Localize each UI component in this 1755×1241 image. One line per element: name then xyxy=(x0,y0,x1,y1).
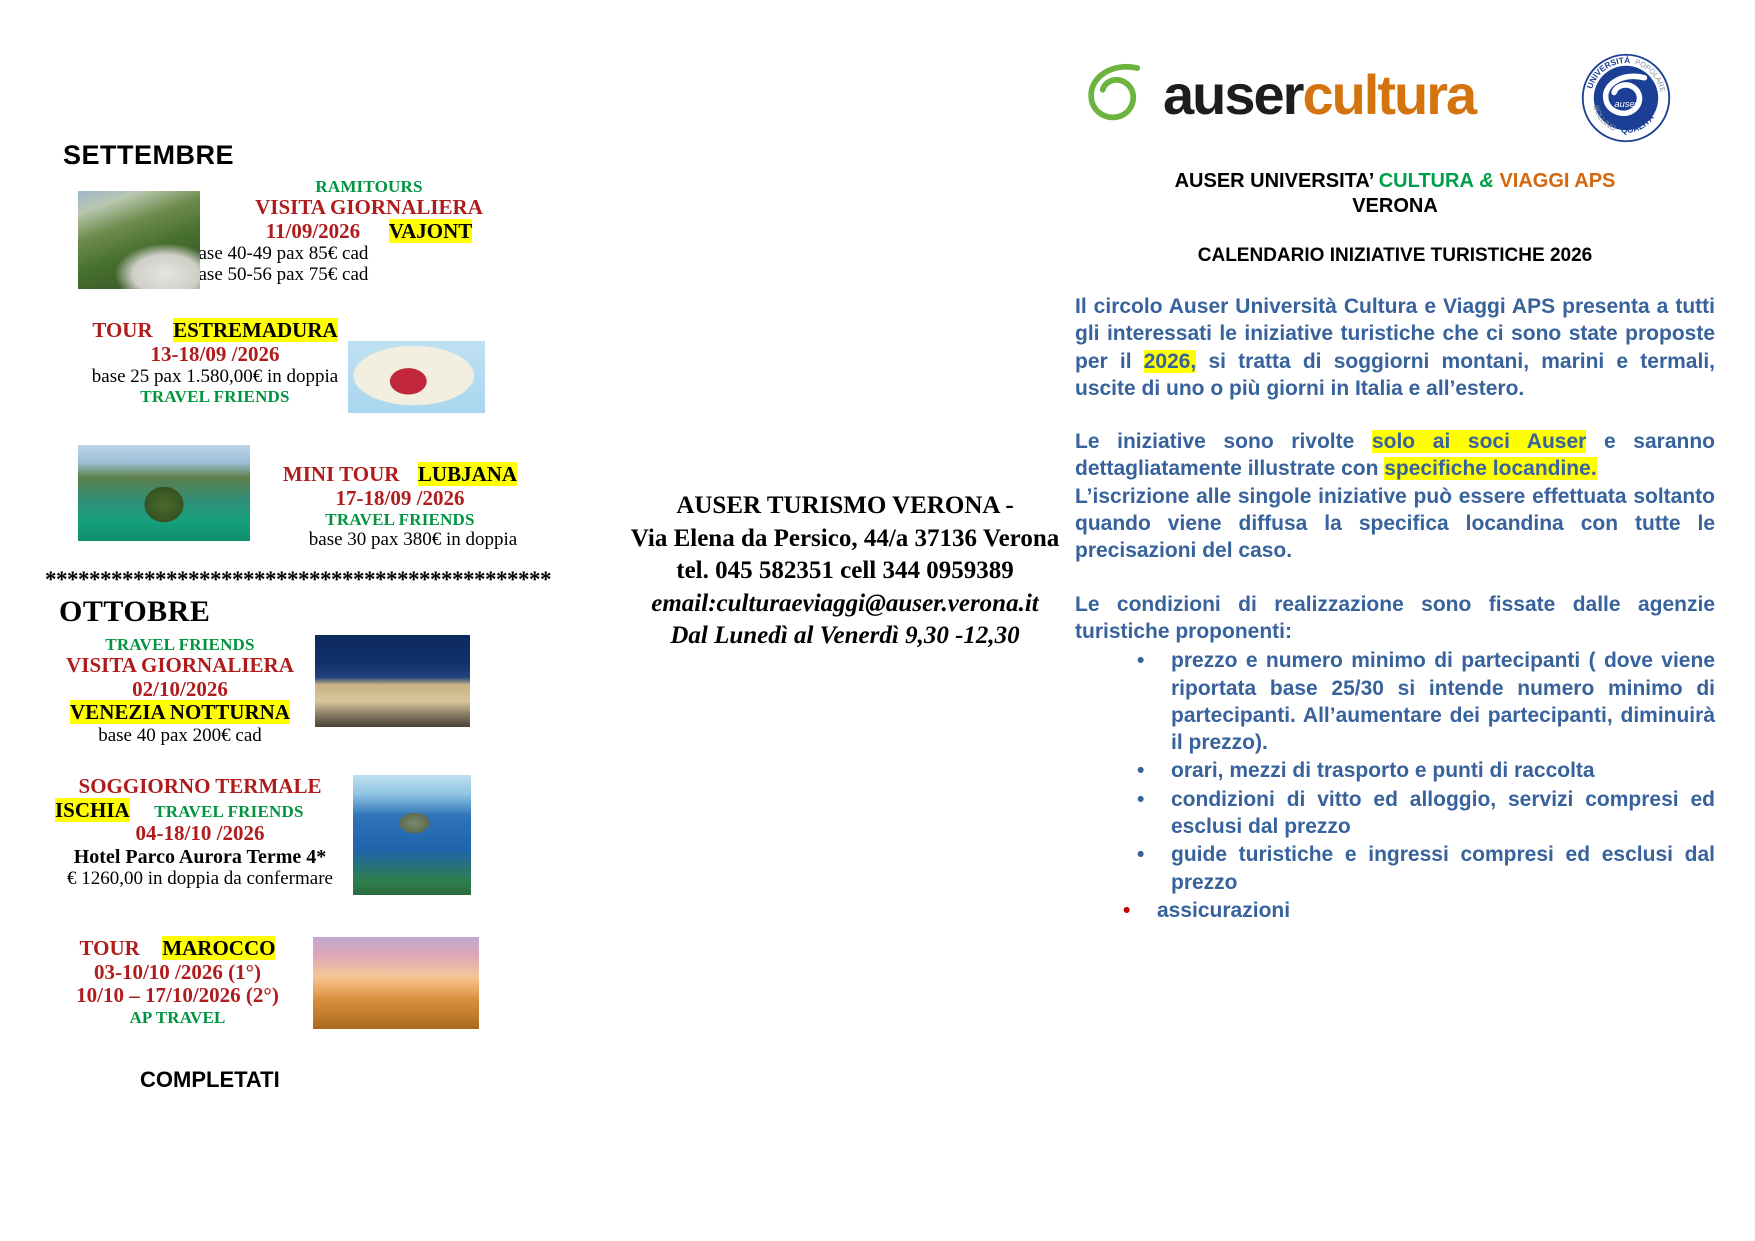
trip-price-2: base 50-56 pax 75€ cad xyxy=(163,264,575,285)
brochure-page: SETTEMBRE RAMITOURS VISITA GIORNALIERA 1… xyxy=(0,0,1755,1241)
trip-type: VISITA GIORNALIERA xyxy=(45,654,315,678)
condition-text: condizioni di vitto ed alloggio, servizi… xyxy=(1171,788,1715,838)
trip-price-1: base 30 pax 380€ in doppia xyxy=(225,529,575,550)
trip-card-vajont: RAMITOURS VISITA GIORNALIERA 11/09/2026 … xyxy=(45,177,575,297)
calendar-title: CALENDARIO INIZIATIVE TURISTICHE 2026 xyxy=(1075,245,1715,267)
trip-price-1: base 40 pax 200€ cad xyxy=(45,725,315,746)
condition-text: orari, mezzi di trasporto e punti di rac… xyxy=(1171,759,1595,782)
logo-word-auser: auser xyxy=(1163,63,1302,126)
status-completati: COMPLETATI xyxy=(140,1067,575,1093)
svg-text:auser: auser xyxy=(1615,99,1639,109)
trip-card-estremadura: TOUR ESTREMADURA 13-18/09 /2026 base 25 … xyxy=(45,319,575,437)
contact-email[interactable]: email:culturaeviaggi@auser.verona.it xyxy=(555,588,1135,621)
contact-phone: tel. 045 582351 cell 344 0959389 xyxy=(555,555,1135,588)
bullet-icon: • xyxy=(1123,897,1130,924)
trip-agency: RAMITOURS xyxy=(163,177,575,196)
ischia-coast-photo xyxy=(353,775,471,895)
org-title-cultura: CULTURA xyxy=(1379,170,1474,192)
trip-card-venezia: TRAVEL FRIENDS VISITA GIORNALIERA 02/10/… xyxy=(45,635,575,753)
logo-word-cultura: cultura xyxy=(1302,63,1475,126)
trip-card-lubjana: MINI TOUR LUBJANA 17-18/09 /2026 TRAVEL … xyxy=(45,439,575,557)
trip-price-1: € 1260,00 in doppia da confermare xyxy=(45,868,355,889)
trip-type: SOGGIORNO TERMALE xyxy=(45,775,355,799)
trip-type: MINI TOUR xyxy=(283,462,400,486)
month-heading-ottobre: OTTOBRE xyxy=(59,595,575,629)
bullet-icon: • xyxy=(1137,841,1144,868)
members-highlight-locandine: specifiche locandine. xyxy=(1384,457,1596,480)
contact-address: Via Elena da Persico, 44/a 37136 Verona xyxy=(555,523,1135,556)
trip-date: 02/10/2026 xyxy=(45,678,315,702)
logo-row: ausercultura UNIVERSITÀ POPOLARE BO xyxy=(1075,40,1715,145)
trip-destination: ISCHIA xyxy=(55,798,130,822)
month-heading-settembre: SETTEMBRE xyxy=(63,140,575,171)
bollino-qualita-badge-icon: UNIVERSITÀ POPOLARE BOLLINO QUALITÀ ause… xyxy=(1580,52,1672,144)
trip-date: 03-10/10 /2026 (1°) xyxy=(45,961,310,985)
trip-type: TOUR xyxy=(80,936,140,960)
trip-agency: TRAVEL FRIENDS xyxy=(45,635,315,654)
members-text-a: Le iniziative sono rivolte xyxy=(1075,430,1372,453)
bled-lake-photo xyxy=(78,445,250,541)
trip-card-ischia: SOGGIORNO TERMALE ISCHIA TRAVEL FRIENDS … xyxy=(45,775,575,915)
trip-destination: ESTREMADURA xyxy=(173,318,338,342)
org-title-amp: & xyxy=(1474,170,1500,192)
list-item: • orari, mezzi di trasporto e punti di r… xyxy=(1075,757,1715,784)
trip-card-marocco: TOUR MAROCCO 03-10/10 /2026 (1°) 10/10 –… xyxy=(45,937,575,1057)
trip-type: TOUR xyxy=(92,318,152,342)
trip-date: 17-18/09 /2026 xyxy=(225,487,575,511)
trip-destination: MAROCCO xyxy=(162,936,275,960)
bullet-icon: • xyxy=(1137,786,1144,813)
intro-highlight-year: 2026, xyxy=(1144,350,1197,373)
right-column: ausercultura UNIVERSITÀ POPOLARE BO xyxy=(1075,40,1715,924)
trip-destination: LUBJANA xyxy=(418,462,517,486)
list-item: • prezzo e numero minimo di partecipanti… xyxy=(1075,647,1715,756)
trip-date: 11/09/2026 xyxy=(266,219,361,243)
trip-agency: TRAVEL FRIENDS xyxy=(225,510,575,529)
condition-text: assicurazioni xyxy=(1157,899,1290,922)
estremadura-map xyxy=(348,341,485,413)
morocco-desert-camels-photo xyxy=(313,937,479,1029)
trip-type: VISITA GIORNALIERA xyxy=(163,196,575,220)
section-separator: ****************************************… xyxy=(45,567,575,593)
contact-block: AUSER TURISMO VERONA - Via Elena da Pers… xyxy=(555,490,1135,653)
contact-org: AUSER TURISMO VERONA - xyxy=(555,490,1135,523)
trip-date-2: 10/10 – 17/10/2026 (2°) xyxy=(45,984,310,1008)
left-column: SETTEMBRE RAMITOURS VISITA GIORNALIERA 1… xyxy=(45,140,575,1093)
org-title: AUSER UNIVERSITA’ CULTURA & VIAGGI APS V… xyxy=(1075,169,1715,219)
org-title-part1: AUSER UNIVERSITA’ xyxy=(1175,170,1379,192)
trip-date: 04-18/10 /2026 xyxy=(45,822,355,846)
trip-hotel: Hotel Parco Aurora Terme 4* xyxy=(45,846,355,868)
condition-text: guide turistiche e ingressi compresi ed … xyxy=(1171,843,1715,893)
members-highlight-soci: solo ai soci Auser xyxy=(1372,430,1586,453)
trip-price-1: base 25 pax 1.580,00€ in doppia xyxy=(55,366,375,387)
bullet-icon: • xyxy=(1137,757,1144,784)
trip-destination: VAJONT xyxy=(389,219,473,243)
auser-leaf-icon xyxy=(1080,58,1160,130)
condition-text: prezzo e numero minimo di partecipanti (… xyxy=(1171,649,1715,754)
registration-paragraph: L’iscrizione alle singole iniziative può… xyxy=(1075,483,1715,565)
trip-agency: TRAVEL FRIENDS xyxy=(154,802,303,821)
trip-destination: VENEZIA NOTTURNA xyxy=(70,700,290,724)
conditions-intro: Le condizioni di realizzazione sono fiss… xyxy=(1075,591,1715,646)
bullet-icon: • xyxy=(1137,647,1144,674)
list-item: • condizioni di vitto ed alloggio, servi… xyxy=(1075,786,1715,841)
venezia-san-marco-night-photo xyxy=(315,635,470,727)
trip-price-1: base 40-49 pax 85€ cad xyxy=(163,243,575,264)
vajont-dam-photo xyxy=(78,191,200,289)
list-item: • assicurazioni xyxy=(1075,897,1715,924)
org-city: VERONA xyxy=(1075,194,1715,219)
org-title-viaggi: VIAGGI APS xyxy=(1499,170,1615,192)
trip-agency: AP TRAVEL xyxy=(45,1008,310,1027)
members-paragraph: Le iniziative sono rivolte solo ai soci … xyxy=(1075,428,1715,483)
intro-paragraph: Il circolo Auser Università Cultura e Vi… xyxy=(1075,293,1715,402)
auser-cultura-wordmark: ausercultura xyxy=(1163,62,1475,127)
conditions-list: • prezzo e numero minimo di partecipanti… xyxy=(1075,647,1715,924)
list-item: • guide turistiche e ingressi compresi e… xyxy=(1075,841,1715,896)
paragraph-spacer xyxy=(1075,565,1715,591)
trip-agency: TRAVEL FRIENDS xyxy=(55,387,375,406)
trip-date: 13-18/09 /2026 xyxy=(55,343,375,367)
contact-hours: Dal Lunedì al Venerdì 9,30 -12,30 xyxy=(555,620,1135,653)
